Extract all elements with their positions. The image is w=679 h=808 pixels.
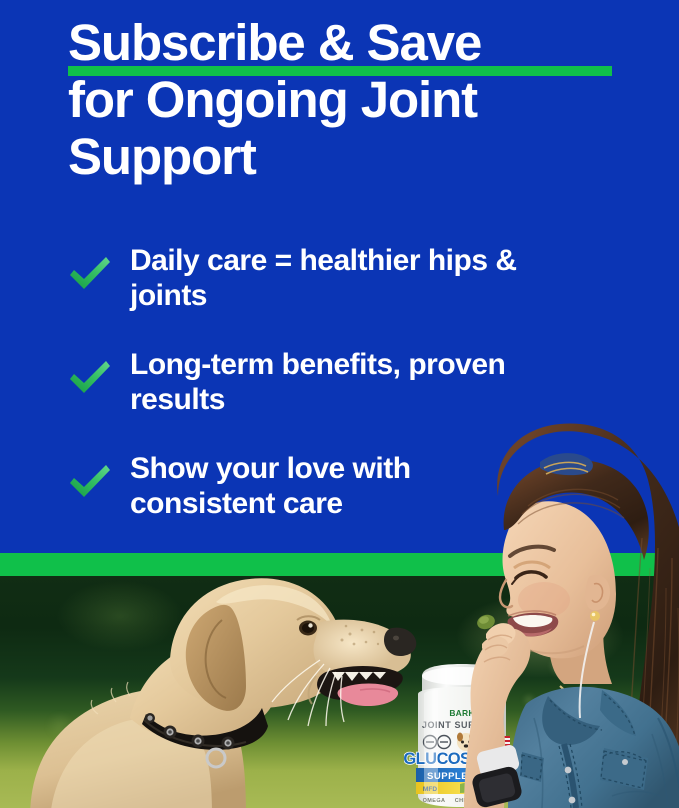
check-icon: [68, 251, 112, 295]
check-icon: [68, 459, 112, 503]
headline-line-2: for Ongoing Joint: [68, 71, 668, 128]
list-item-label: Daily care = healthier hips & joints: [130, 243, 550, 313]
headline-line-3: Support: [68, 128, 668, 185]
woman-illustration: [452, 418, 679, 808]
page-title: Subscribe & Save for Ongoing Joint Suppo…: [68, 14, 668, 185]
check-icon: [68, 355, 112, 399]
headline-line-1: Subscribe & Save: [68, 14, 668, 71]
dog-illustration: [20, 576, 440, 808]
list-item-label: Long-term benefits, proven results: [130, 347, 550, 417]
list-item: Long-term benefits, proven results: [68, 347, 668, 417]
ad-banner: Subscribe & Save for Ongoing Joint Suppo…: [0, 0, 679, 808]
headline-line-1-text: Subscribe & Save: [68, 14, 481, 71]
list-item: Daily care = healthier hips & joints: [68, 243, 668, 313]
